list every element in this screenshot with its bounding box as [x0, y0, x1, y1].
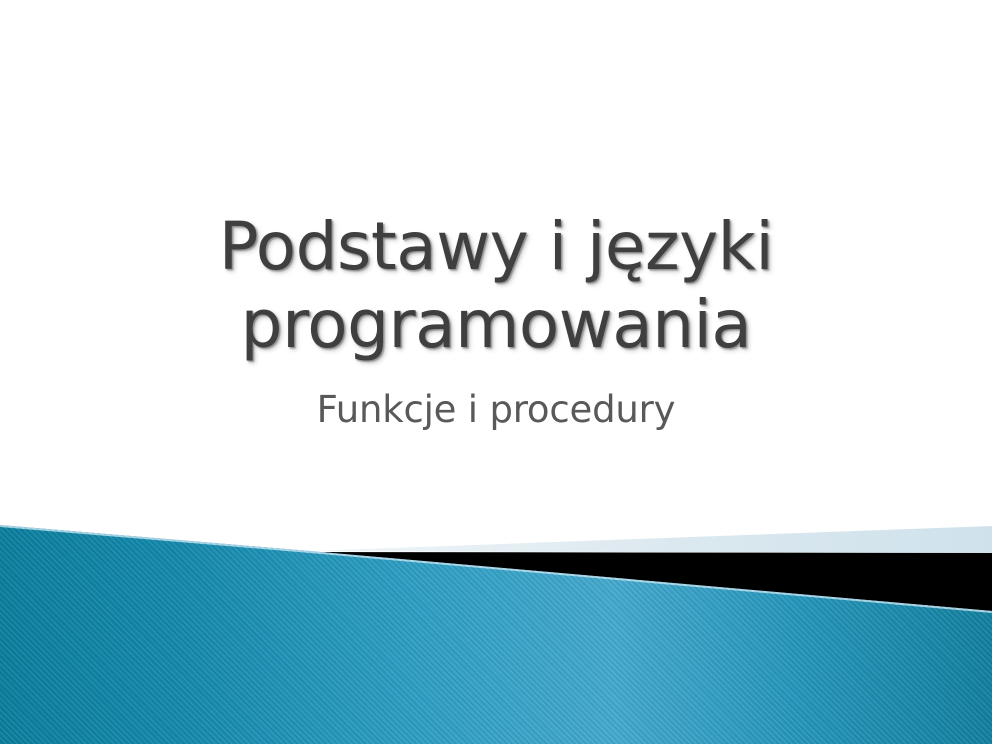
banner-shapes [0, 514, 992, 744]
slide-subtitle: Funkcje i procedury [96, 388, 896, 432]
presentation-slide: Podstawy i języki programowania Funkcje … [0, 0, 992, 744]
angled-banner-graphic [0, 514, 992, 744]
page-title: Podstawy i języki programowania [96, 208, 896, 364]
pale-blue-wedge [310, 526, 992, 553]
title-text-block: Podstawy i języki programowania Funkcje … [0, 0, 992, 520]
